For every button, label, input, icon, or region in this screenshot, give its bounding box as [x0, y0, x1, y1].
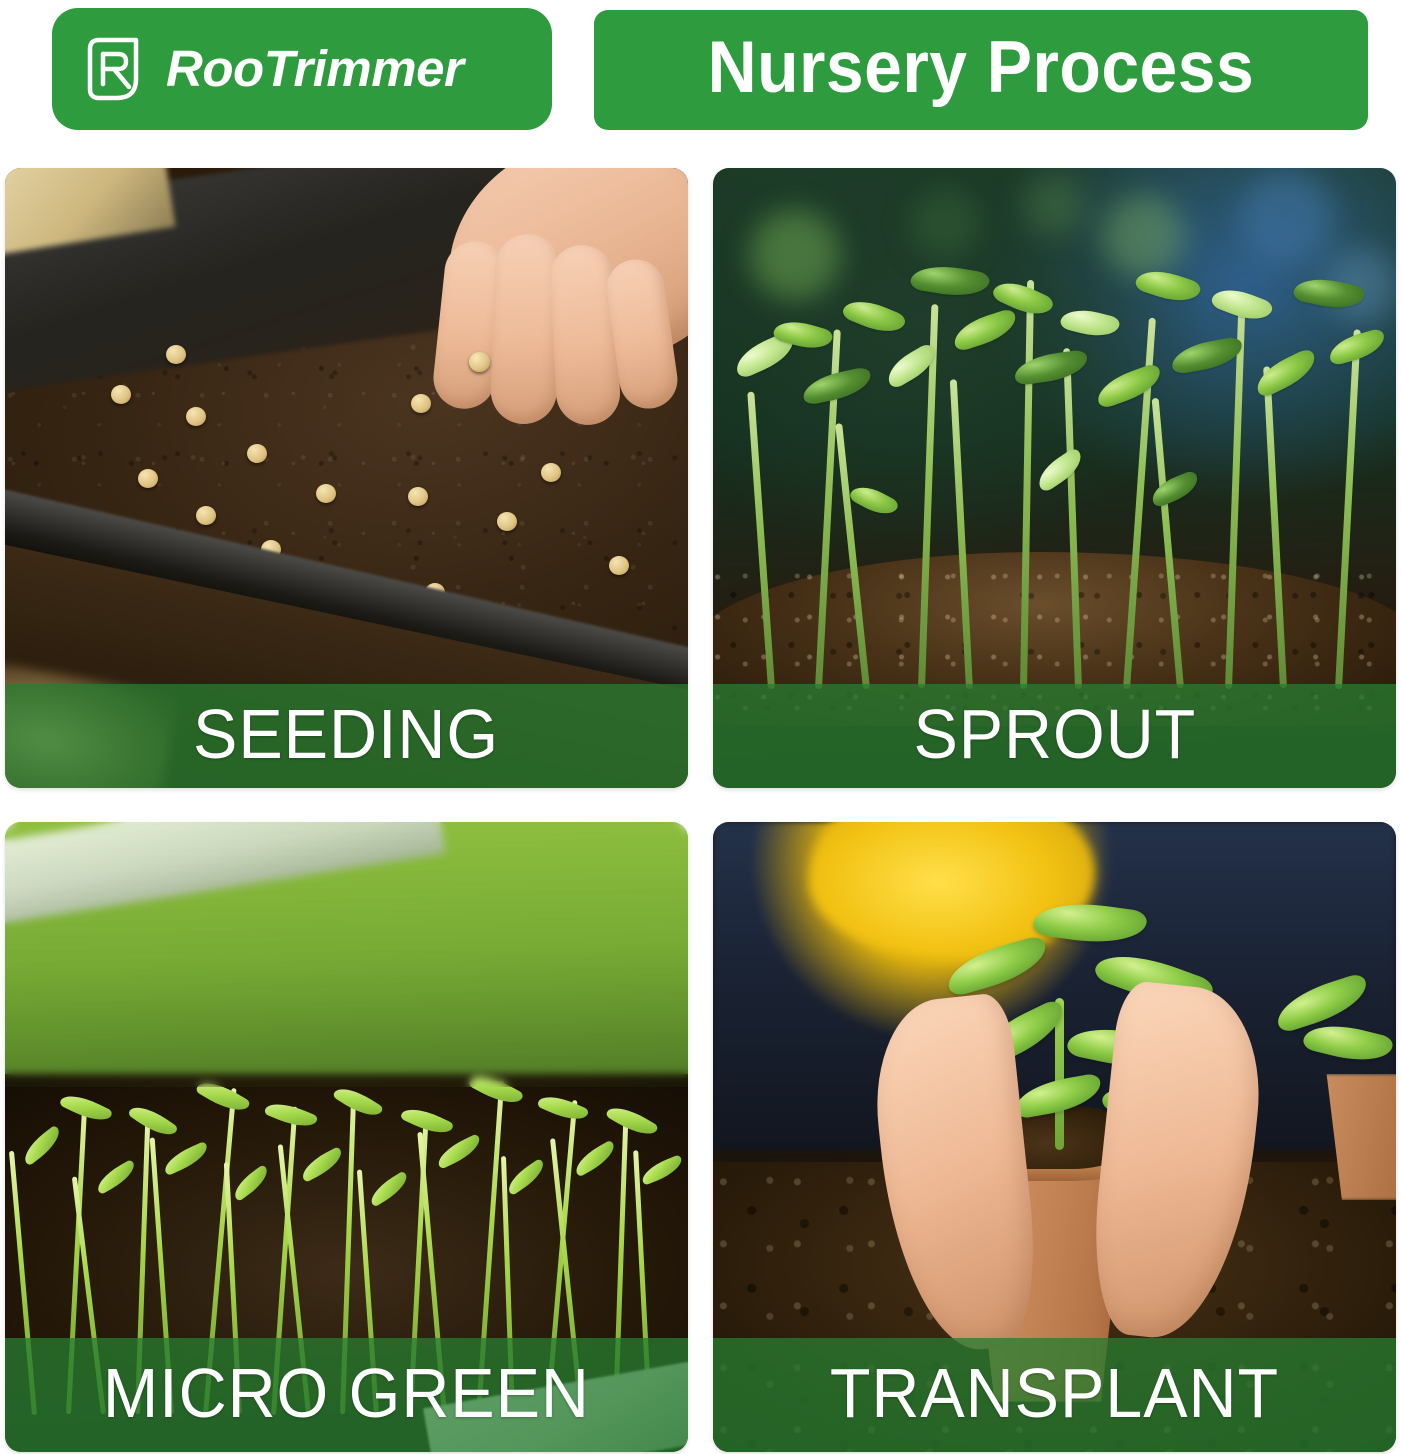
seeding-label-band: SEEDING [5, 684, 688, 788]
micro-green-label: MICRO GREEN [103, 1358, 590, 1428]
process-step-micro-green: MICRO GREEN [5, 822, 688, 1452]
page-title: Nursery Process [708, 31, 1255, 104]
process-grid: SEEDING [5, 168, 1396, 1452]
process-step-seeding: SEEDING [5, 168, 688, 788]
brand-name: RooTrimmer [166, 43, 463, 94]
sprout-label-band: SPROUT [713, 684, 1396, 788]
hand-sowing [415, 168, 688, 484]
process-step-transplant: TRANSPLANT [713, 822, 1396, 1452]
seeding-label: SEEDING [194, 699, 500, 769]
transplant-label-band: TRANSPLANT [713, 1338, 1396, 1452]
nursery-process-infographic: RooTrimmer Nursery Process [0, 0, 1401, 1454]
header: RooTrimmer Nursery Process [0, 0, 1401, 140]
background-plant [1259, 961, 1396, 1100]
brand-logo-banner: RooTrimmer [52, 8, 552, 130]
leaf-r-monogram-icon [80, 35, 146, 103]
page-title-banner: Nursery Process [594, 10, 1368, 130]
micro-green-label-band: MICRO GREEN [5, 1338, 688, 1452]
sprout-label: SPROUT [913, 699, 1196, 769]
process-step-sprout: SPROUT [713, 168, 1396, 788]
transplant-label: TRANSPLANT [830, 1358, 1279, 1428]
